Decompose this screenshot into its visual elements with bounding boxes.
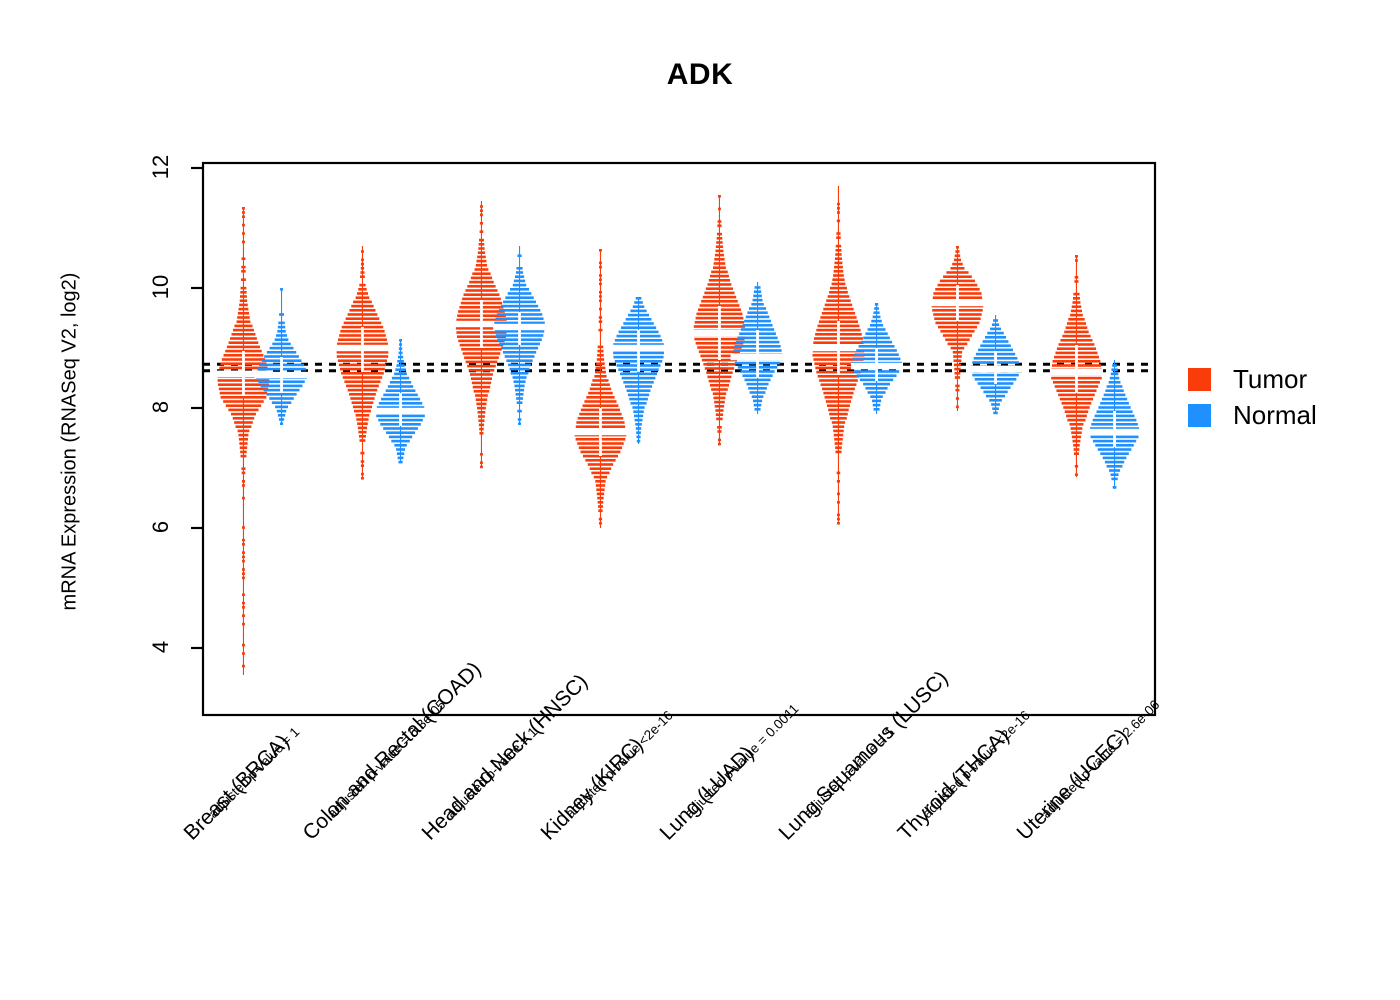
swarm-dash xyxy=(833,430,843,433)
swarm-dash xyxy=(873,404,881,407)
swarm-dash xyxy=(463,352,501,355)
swarm-dash xyxy=(359,284,365,287)
swarm-dash xyxy=(709,279,730,282)
swarm-dash xyxy=(241,278,246,281)
swarm-dash xyxy=(591,383,610,386)
swarm-dash xyxy=(517,410,522,413)
swarm-dash xyxy=(1073,297,1080,300)
iqr-center-gap xyxy=(242,351,245,396)
swarm-dash xyxy=(863,337,890,340)
swarm-dash xyxy=(279,313,284,316)
swarm-dash xyxy=(396,448,405,451)
swarm-dash xyxy=(870,395,883,398)
swarm-dash xyxy=(1111,473,1119,476)
swarm-dash xyxy=(242,207,245,210)
swarm-dash xyxy=(399,343,402,346)
swarm-dash xyxy=(388,385,413,388)
swarm-dash xyxy=(711,271,728,274)
swarm-dash xyxy=(709,380,730,383)
swarm-dash xyxy=(1098,406,1130,409)
swarm-dash xyxy=(753,400,762,403)
swarm-dash xyxy=(978,349,1013,352)
swarm-dash xyxy=(620,373,657,376)
swarm-dash xyxy=(361,263,364,266)
swarm-dash xyxy=(346,385,379,388)
swarm-dash xyxy=(955,254,960,257)
swarm-dash xyxy=(837,514,840,517)
swarm-dash xyxy=(637,440,640,443)
swarm-dash xyxy=(1104,394,1126,397)
swarm-dash xyxy=(596,362,605,365)
swarm-dash xyxy=(356,418,368,421)
swarm-dash xyxy=(753,299,763,302)
swarm-dash xyxy=(622,377,656,380)
swarm-dash xyxy=(476,403,486,406)
swarm-dash xyxy=(715,405,724,408)
swarm-dash xyxy=(277,330,285,333)
swarm-dash xyxy=(242,644,245,647)
swarm-dash xyxy=(242,211,245,214)
swarm-tumor-0 xyxy=(217,207,270,675)
swarm-dash xyxy=(1062,335,1090,338)
swarm-dash xyxy=(989,399,1002,402)
swarm-dash xyxy=(239,304,248,307)
swarm-dash xyxy=(950,267,964,270)
iqr-center-gap xyxy=(399,393,402,426)
swarm-dash xyxy=(272,401,291,404)
swarm-dash xyxy=(713,397,725,400)
swarm-dash xyxy=(636,431,641,434)
swarm-dash xyxy=(242,480,245,483)
swarm-dash xyxy=(237,316,250,319)
swarm-dash xyxy=(597,354,604,357)
swarm-dash xyxy=(348,389,378,392)
swarm-dash xyxy=(242,665,245,668)
swarm-dash xyxy=(1071,427,1083,430)
swarm-dash xyxy=(277,410,286,413)
swarm-dash xyxy=(1073,440,1081,443)
swarm-dash xyxy=(599,249,602,252)
swarm-dash xyxy=(748,387,767,390)
swarm-dash xyxy=(822,312,855,315)
swarm-dash xyxy=(279,418,284,421)
swarm-dash xyxy=(358,427,367,430)
swarm-dash xyxy=(242,224,245,227)
swarm-dash xyxy=(835,446,842,449)
swarm-dash xyxy=(479,243,485,246)
swarm-dash xyxy=(943,334,972,337)
swarm-dash xyxy=(242,543,245,546)
swarm-dash xyxy=(480,230,484,233)
swarm-dash xyxy=(386,431,415,434)
swarm-dash xyxy=(583,404,619,407)
swarm-dash xyxy=(599,266,602,269)
swarm-dash xyxy=(827,404,850,407)
swarm-dash xyxy=(983,340,1009,343)
legend-label-tumor: Tumor xyxy=(1233,366,1307,392)
swarm-dash xyxy=(834,434,843,437)
swarm-dash xyxy=(597,497,603,500)
swarm-dash xyxy=(837,211,840,214)
swarm-dash xyxy=(476,264,487,267)
swarm-dash xyxy=(240,446,247,449)
swarm-dash xyxy=(713,392,726,395)
swarm-dash xyxy=(242,497,245,500)
swarm-dash xyxy=(595,371,606,374)
swarm-dash xyxy=(1072,436,1081,439)
swarm-dash xyxy=(462,298,501,301)
swarm-dash xyxy=(628,394,649,397)
swarm-dash xyxy=(823,392,853,395)
swarm-dash xyxy=(598,346,604,349)
swarm-dash xyxy=(359,435,366,438)
swarm-dash xyxy=(241,467,245,470)
swarm-dash xyxy=(833,425,844,428)
swarm-dash xyxy=(357,292,368,295)
swarm-dash xyxy=(359,439,365,442)
swarm-dash xyxy=(714,258,724,261)
swarm-dash xyxy=(584,400,616,403)
swarm-dash xyxy=(634,301,643,304)
swarm-dash xyxy=(1074,280,1078,283)
swarm-dash xyxy=(228,409,258,412)
swarm-dash xyxy=(837,220,840,223)
swarm-dash xyxy=(626,318,652,321)
swarm-dash xyxy=(834,262,842,265)
swarm-dash xyxy=(238,430,250,433)
iqr-center-gap xyxy=(837,321,840,375)
swarm-dash xyxy=(829,413,848,416)
iqr-center-gap xyxy=(994,351,997,384)
iqr-center-gap xyxy=(875,348,878,381)
swarm-dash xyxy=(954,259,961,262)
swarm-dash xyxy=(1075,473,1078,476)
swarm-dash xyxy=(341,372,384,375)
y-tick-label: 10 xyxy=(148,267,174,307)
swarm-dash xyxy=(836,232,840,235)
swarm-dash xyxy=(865,332,887,335)
swarm-dash xyxy=(471,277,492,280)
swarm-dash xyxy=(1109,381,1121,384)
swarm-dash xyxy=(232,333,256,336)
swarm-dash xyxy=(392,377,409,380)
swarm-dash xyxy=(704,292,734,295)
swarm-dash xyxy=(993,412,997,415)
y-tick-label: 4 xyxy=(148,627,174,667)
swarm-dash xyxy=(837,207,840,210)
swarm-dash xyxy=(822,388,855,391)
swarm-dash xyxy=(747,311,767,314)
swarm-dash xyxy=(241,266,245,269)
swarm-dash xyxy=(599,278,602,281)
swarm-dash xyxy=(480,205,483,208)
swarm-dash xyxy=(516,271,523,274)
swarm-dash xyxy=(1067,419,1085,422)
swarm-dash xyxy=(349,309,375,312)
swarm-dash xyxy=(461,348,502,351)
swarm-dash xyxy=(480,214,483,217)
swarm-dash xyxy=(386,389,416,392)
swarm-dash xyxy=(361,460,364,463)
swarm-dash xyxy=(356,296,370,299)
swarm-dash xyxy=(242,572,245,575)
swarm-tumor-3 xyxy=(574,249,627,528)
swarm-dash xyxy=(1075,259,1078,262)
swarm-dash xyxy=(836,245,841,248)
swarm-dash xyxy=(478,411,486,414)
swarm-dash xyxy=(636,436,640,439)
swarm-dash xyxy=(955,385,959,388)
swarm-dash xyxy=(833,274,844,277)
swarm-dash xyxy=(585,459,615,462)
swarm-dash xyxy=(465,289,497,292)
swarm-dash xyxy=(710,275,729,278)
swarm-dash xyxy=(242,526,245,529)
swarm-dash xyxy=(873,311,879,314)
swarm-dash xyxy=(267,351,296,354)
swarm-dash xyxy=(478,419,484,422)
swarm-dash xyxy=(397,360,404,363)
swarm-dash xyxy=(599,316,602,319)
swarm-dash xyxy=(599,299,602,302)
swarm-dash xyxy=(499,309,541,312)
swarm-dash xyxy=(715,409,723,412)
swarm-dash xyxy=(515,389,524,392)
swarm-dash xyxy=(240,299,247,302)
swarm-dash xyxy=(270,347,294,350)
swarm-dash xyxy=(471,377,492,380)
swarm-dash xyxy=(242,257,246,260)
swarm-dash xyxy=(586,396,614,399)
swarm-dash xyxy=(234,421,253,424)
swarm-dash xyxy=(598,505,603,508)
legend: TumorNormal xyxy=(1188,366,1317,438)
swarm-dash xyxy=(278,326,285,329)
swarm-dash xyxy=(480,453,483,456)
swarm-dash xyxy=(231,413,256,416)
swarm-dash xyxy=(516,267,522,270)
swarm-dash xyxy=(480,461,483,464)
swarm-dash xyxy=(1075,276,1079,279)
swarm-dash xyxy=(1071,431,1081,434)
swarm-dash xyxy=(956,406,959,409)
swarm-dash xyxy=(397,452,404,455)
swarm-dash xyxy=(993,319,998,322)
swarm-dash xyxy=(475,394,488,397)
swarm-dash xyxy=(518,418,521,421)
swarm-dash xyxy=(360,275,365,278)
swarm-dash xyxy=(344,380,380,383)
swarm-dash xyxy=(863,383,890,386)
swarm-dash xyxy=(749,307,766,310)
swarm-dash xyxy=(1107,385,1123,388)
swarm-dash xyxy=(599,262,602,265)
swarm-dash xyxy=(717,426,722,429)
swarm-dash xyxy=(480,209,483,212)
swarm-dash xyxy=(480,222,483,225)
swarm-dash xyxy=(956,246,959,249)
swarm-dash xyxy=(599,291,602,294)
swarm-dash xyxy=(718,220,722,223)
swarm-dash xyxy=(478,415,485,418)
swarm-dash xyxy=(399,352,403,355)
swarm-dash xyxy=(1111,373,1119,376)
swarm-dash xyxy=(590,388,611,391)
swarm-dash xyxy=(820,316,856,319)
swarm-dash xyxy=(632,406,644,409)
swarm-dash xyxy=(242,241,245,244)
swarm-dash xyxy=(837,203,840,206)
swarm-dash xyxy=(834,438,843,441)
swarm-dash xyxy=(623,322,653,325)
swarm-dash xyxy=(836,236,840,239)
swarm-dash xyxy=(636,297,642,300)
swarm-dash xyxy=(480,466,483,469)
swarm-dash xyxy=(344,322,382,325)
swarm-dash xyxy=(358,288,366,291)
swarm-dash xyxy=(357,422,368,425)
swarm-dash xyxy=(859,345,895,348)
legend-item-tumor[interactable]: Tumor xyxy=(1188,366,1317,392)
swarm-dash xyxy=(223,400,264,403)
swarm-dash xyxy=(383,427,418,430)
swarm-dash xyxy=(953,351,962,354)
swarm-dash xyxy=(238,434,248,437)
swarm-dash xyxy=(1100,402,1129,405)
swarm-dash xyxy=(237,320,251,323)
swarm-dash xyxy=(275,406,288,409)
swarm-dash xyxy=(818,375,860,378)
swarm-dash xyxy=(992,323,999,326)
swarm-dash xyxy=(633,305,645,308)
swarm-dash xyxy=(627,389,651,392)
swarm-dash xyxy=(743,324,773,327)
swarm-dash xyxy=(951,347,965,350)
swarm-dash xyxy=(718,208,721,211)
swarm-dash xyxy=(518,422,521,425)
legend-item-normal[interactable]: Normal xyxy=(1188,402,1317,428)
legend-label-normal: Normal xyxy=(1233,402,1317,428)
swarm-dash xyxy=(986,395,1005,398)
swarm-dash xyxy=(635,423,642,426)
swarm-dash xyxy=(591,472,609,475)
swarm-dash xyxy=(955,372,961,375)
swarm-dash xyxy=(361,250,364,253)
swarm-dash xyxy=(469,281,494,284)
swarm-dash xyxy=(238,308,248,311)
swarm-dash xyxy=(747,383,769,386)
swarm-normal-2 xyxy=(493,246,546,425)
swarm-dash xyxy=(356,414,370,417)
swarm-dash xyxy=(361,267,364,270)
plot-frame xyxy=(203,163,1155,715)
swarm-dash xyxy=(935,322,979,325)
swarm-dash xyxy=(276,334,287,337)
swarm-dash xyxy=(349,393,376,396)
swarm-dash xyxy=(503,301,536,304)
iqr-center-gap xyxy=(361,327,364,372)
swarm-dash xyxy=(395,368,405,371)
swarm-dash xyxy=(467,285,495,288)
swarm-dash xyxy=(837,518,840,521)
swarm-dash xyxy=(506,359,532,362)
swarm-dash xyxy=(938,326,977,329)
swarm-dash xyxy=(229,341,259,344)
swarm-dash xyxy=(242,614,245,617)
swarm-dash xyxy=(628,314,649,317)
swarm-dash xyxy=(946,271,968,274)
swarm-dash xyxy=(1111,368,1117,371)
swarm-dash xyxy=(394,444,406,447)
swarm-dash xyxy=(501,347,538,350)
swarm-dash xyxy=(716,245,723,248)
swarm-dash xyxy=(829,291,848,294)
swarm-dash xyxy=(240,451,247,454)
swarm-dash xyxy=(1064,331,1088,334)
swarm-dash xyxy=(940,330,974,333)
swarm-dash xyxy=(715,250,723,253)
swarm-dash xyxy=(713,266,726,269)
swarm-dash xyxy=(1060,398,1093,401)
swarm-dash xyxy=(752,395,764,398)
swarm-dash xyxy=(242,602,245,605)
swarm-dash xyxy=(396,364,404,367)
swarm-dash xyxy=(744,320,771,323)
swarm-dash xyxy=(242,539,245,542)
swarm-dash xyxy=(230,337,257,340)
swarm-dash xyxy=(875,303,878,306)
swarm-dash xyxy=(278,322,284,325)
swarm-dash xyxy=(505,355,535,358)
swarm-dash xyxy=(708,376,732,379)
swarm-dash xyxy=(623,381,653,384)
swarm-dash xyxy=(634,415,643,418)
swarm-dash xyxy=(955,389,959,392)
swarm-dash xyxy=(478,247,484,250)
swarm-dash xyxy=(390,381,411,384)
swarm-dash xyxy=(361,464,364,467)
swarm-dash xyxy=(1075,255,1078,258)
swarm-dash xyxy=(353,301,372,304)
swarm-dash xyxy=(221,396,267,399)
swarm-dash xyxy=(830,417,847,420)
iqr-center-gap xyxy=(637,330,640,372)
swarm-dash xyxy=(242,215,245,218)
swarm-dash xyxy=(354,410,371,413)
swarm-dash xyxy=(1074,452,1079,455)
swarm-dash xyxy=(242,560,245,563)
swarm-dash xyxy=(1072,305,1082,308)
swarm-dash xyxy=(755,408,761,411)
swarm-dash xyxy=(464,356,499,359)
swarm-dash xyxy=(868,391,886,394)
swarm-dash xyxy=(241,287,247,290)
swarm-dash xyxy=(226,404,261,407)
swarm-dash xyxy=(870,324,883,327)
swarm-dash xyxy=(718,439,721,442)
swarm-dash xyxy=(510,368,530,371)
swarm-dash xyxy=(987,332,1003,335)
swarm-dash xyxy=(708,283,732,286)
swarm-dash xyxy=(399,347,402,350)
swarm-dash xyxy=(835,257,842,260)
swarm-dash xyxy=(714,401,725,404)
swarm-dash xyxy=(1072,301,1080,304)
swarm-dash xyxy=(983,391,1007,394)
chart-page: ADK mRNA Expression (RNASeq V2, log2) 46… xyxy=(0,0,1400,1000)
swarm-dash xyxy=(717,233,722,236)
swarm-dash xyxy=(1109,469,1120,472)
